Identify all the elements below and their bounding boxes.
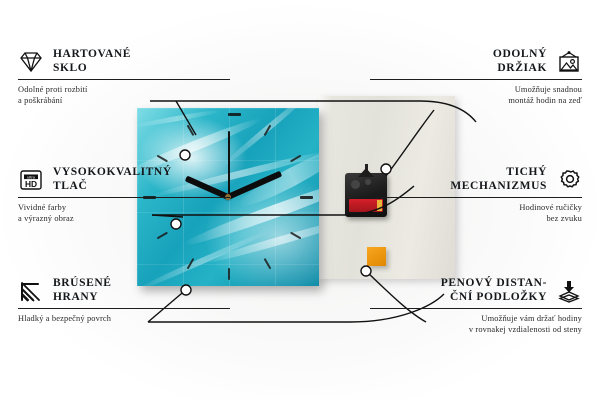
hd-label: HD bbox=[25, 179, 37, 189]
feature-title-line-1: TICHÝ bbox=[506, 166, 547, 178]
feature-title-line-2: MECHANIZMUS bbox=[450, 180, 547, 192]
feature-title-line-2: DRŽIAK bbox=[497, 62, 547, 74]
feature-head: TICHÝMECHANIZMUS bbox=[370, 166, 582, 193]
feature-title-line-2: TLAČ bbox=[53, 180, 87, 192]
feature-desc-line-1: Hladký a bezpečný povrch bbox=[18, 314, 111, 323]
infographic-canvas: HARTOVANÉSKLO Odolné proti rozbitía pošk… bbox=[0, 0, 600, 400]
divider bbox=[370, 308, 582, 309]
clock-tick bbox=[228, 113, 241, 116]
feature-desc-line-1: Odolné proti rozbití bbox=[18, 85, 88, 94]
feature-desc-line-1: Hodinové ručičky bbox=[519, 203, 582, 212]
feature-high-quality-print: ultra HD VYSOKOKVALITNÝTLAČ Vividné farb… bbox=[18, 166, 230, 224]
feature-title-line-1: PENOVÝ DISTAN- bbox=[441, 277, 547, 289]
picture-hanger-icon bbox=[556, 50, 582, 74]
feature-head: PENOVÝ DISTAN-ČNÍ PODLOŽKY bbox=[370, 277, 582, 304]
feature-title-line-1: HARTOVANÉ bbox=[53, 48, 131, 60]
feature-head: HARTOVANÉSKLO bbox=[18, 48, 230, 75]
feature-title-line-1: BRÚSENÉ bbox=[53, 277, 112, 289]
feature-desc-line-1: Vividné farby bbox=[18, 203, 66, 212]
divider bbox=[370, 79, 582, 80]
ultra-hd-icon: ultra HD bbox=[18, 168, 44, 192]
divider bbox=[370, 197, 582, 198]
divider bbox=[18, 197, 230, 198]
feature-ground-edges: BRÚSENÉHRANY Hladký a bezpečný povrch bbox=[18, 277, 230, 324]
feature-head: BRÚSENÉHRANY bbox=[18, 277, 230, 304]
feature-title-line-1: VYSOKOKVALITNÝ bbox=[53, 166, 172, 178]
feature-title-line-2: ČNÍ PODLOŽKY bbox=[450, 291, 547, 303]
feature-foam-spacers: PENOVÝ DISTAN-ČNÍ PODLOŽKY Umožňuje vám … bbox=[370, 277, 582, 335]
foam-spacer-icon bbox=[556, 279, 582, 303]
ground-edges-icon bbox=[18, 279, 44, 303]
divider bbox=[18, 79, 230, 80]
feature-silent-mechanism: TICHÝMECHANIZMUS Hodinové ručičkybez zvu… bbox=[370, 166, 582, 224]
feature-desc-line-2: montáž hodin na zeď bbox=[508, 96, 582, 105]
feature-desc-line-2: v rovnakej vzdialenosti od steny bbox=[469, 325, 582, 334]
gear-icon bbox=[556, 168, 582, 192]
feature-desc-line-2: a výrazný obraz bbox=[18, 214, 74, 223]
feature-head: ultra HD VYSOKOKVALITNÝTLAČ bbox=[18, 166, 230, 193]
feature-desc-line-2: bez zvuku bbox=[546, 214, 582, 223]
foam-spacer-photo bbox=[367, 247, 386, 266]
feature-durable-holder: ODOLNÝDRŽIAK Umožňuje snadnoumontáž hodi… bbox=[370, 48, 582, 106]
divider bbox=[18, 308, 230, 309]
feature-title-line-1: ODOLNÝ bbox=[493, 48, 547, 60]
feature-desc-line-1: Umožňuje snadnou bbox=[515, 85, 582, 94]
feature-tempered-glass: HARTOVANÉSKLO Odolné proti rozbitía pošk… bbox=[18, 48, 230, 106]
feature-title-line-2: HRANY bbox=[53, 291, 98, 303]
feature-title-line-2: SKLO bbox=[53, 62, 87, 74]
diamond-icon bbox=[18, 50, 44, 74]
feature-head: ODOLNÝDRŽIAK bbox=[370, 48, 582, 75]
feature-desc-line-1: Umožňuje vám držať hodiny bbox=[481, 314, 582, 323]
feature-desc-line-2: a poškrábání bbox=[18, 96, 62, 105]
